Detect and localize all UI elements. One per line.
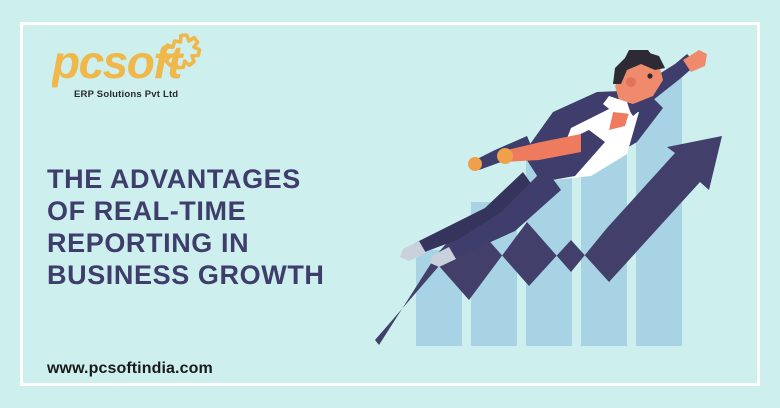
- headline-line-1: THE ADVANTAGES: [47, 163, 347, 195]
- headline-line-4: BUSINESS GROWTH: [47, 259, 347, 291]
- svg-text:pcsoft: pcsoft: [52, 36, 184, 88]
- promo-banner: pcsoft ERP Solutions Pvt Ltd THE ADVANTA…: [0, 0, 780, 408]
- brand-logo[interactable]: pcsoft ERP Solutions Pvt Ltd: [52, 26, 212, 106]
- pcsoft-wordmark-icon: pcsoft: [52, 26, 202, 88]
- headline-line-3: REPORTING IN: [47, 227, 347, 259]
- page-title: THE ADVANTAGES OF REAL-TIME REPORTING IN…: [47, 163, 347, 291]
- website-url[interactable]: www.pcsoftindia.com: [47, 360, 213, 378]
- forward-hand: [497, 148, 513, 164]
- headline-line-2: OF REAL-TIME: [47, 195, 347, 227]
- hero-illustration: [375, 50, 765, 360]
- logo-tagline: ERP Solutions Pvt Ltd: [74, 89, 178, 100]
- left-hand: [468, 157, 482, 171]
- eye: [647, 73, 652, 78]
- ear: [626, 77, 636, 87]
